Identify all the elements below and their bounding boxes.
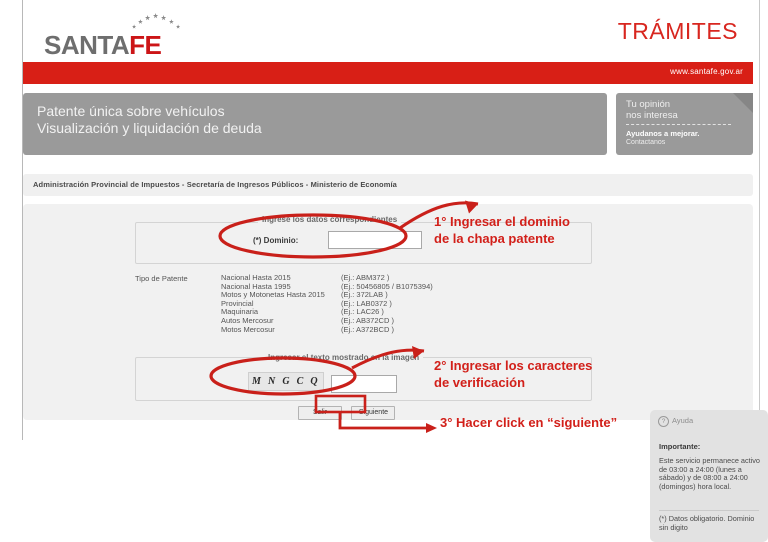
tipo-patente-examples: (Ej.: ABM372 ) (Ej.: 50456805 / B1075394…: [341, 274, 433, 334]
annotation-step2-line2: de verificación: [434, 374, 592, 391]
main-content-card: Ingrese los datos correspondientes (*) D…: [23, 204, 753, 420]
opinion-divider: [626, 124, 731, 125]
help-panel-header: Ayuda: [672, 416, 693, 425]
opinion-cta-bold: Ayudanos a mejorar.: [626, 129, 700, 138]
opinion-line1: Tu opinión: [626, 99, 670, 110]
tipo-patente-names: Nacional Hasta 2015 Nacional Hasta 1995 …: [221, 274, 325, 334]
tipo-example: (Ej.: A372BCD ): [341, 326, 433, 335]
section-title-tramites: TRÁMITES: [618, 18, 738, 45]
captcha-image: M N G C Q: [248, 372, 324, 391]
logo-wordmark: SANTAFE: [44, 30, 161, 61]
logo-word-fe: FE: [129, 30, 161, 60]
salir-button[interactable]: Salir: [298, 406, 342, 420]
siguiente-button[interactable]: Siguiente: [351, 406, 395, 420]
dominio-input[interactable]: [328, 231, 422, 249]
captcha-input[interactable]: [331, 375, 397, 393]
form-legend: Ingrese los datos correspondientes: [258, 215, 401, 224]
annotation-step2: 2° Ingresar los caracteres de verificaci…: [434, 357, 592, 391]
logo-word-santa: SANTA: [44, 30, 129, 60]
annotation-step1-line1: 1° Ingresar el dominio: [434, 213, 570, 230]
opinion-box[interactable]: Tu opinión nos interesa Ayudanos a mejor…: [616, 93, 753, 155]
page-root: SANTAFE TRÁMITES www.santafe.gov.ar Pate…: [0, 0, 768, 440]
captcha-legend: Ingresar el texto mostrado en la imagen: [264, 353, 423, 362]
red-nav-bar: www.santafe.gov.ar: [23, 62, 753, 84]
opinion-contact-link[interactable]: Contactanos: [626, 139, 665, 146]
breadcrumb-text: Administración Provincial de Impuestos -…: [33, 180, 397, 189]
form-button-row: Salir Siguiente: [298, 406, 400, 424]
santa-fe-logo[interactable]: SANTAFE: [44, 10, 194, 58]
help-important-label: Importante:: [659, 442, 700, 451]
page-title-band: Patente única sobre vehículos Visualizac…: [23, 93, 607, 155]
annotation-step1: 1° Ingresar el dominio de la chapa paten…: [434, 213, 570, 247]
folded-corner-icon: [733, 93, 753, 113]
website-url-link[interactable]: www.santafe.gov.ar: [670, 67, 743, 76]
annotation-step1-line2: de la chapa patente: [434, 230, 570, 247]
help-panel: ? Ayuda Importante: Este servicio perman…: [650, 410, 768, 542]
page-title-line1: Patente única sobre vehículos: [37, 103, 225, 119]
page-title-line2: Visualización y liquidación de deuda: [37, 120, 262, 136]
help-body-text: Este servicio permanece activo de 03:00 …: [659, 457, 763, 491]
arrow-step3-head: [426, 423, 437, 433]
opinion-line2: nos interesa: [626, 110, 678, 121]
tipo-name: Motos Mercosur: [221, 326, 325, 335]
question-mark-icon: ?: [658, 416, 669, 427]
help-note-text: (*) Datos obligatorio. Dominio sin digit…: [659, 515, 763, 532]
help-divider: [659, 510, 759, 511]
breadcrumb: Administración Provincial de Impuestos -…: [23, 174, 753, 196]
dominio-label: (*) Dominio:: [253, 236, 298, 245]
annotation-step2-line1: 2° Ingresar los caracteres: [434, 357, 592, 374]
browser-edge-right: [759, 0, 760, 440]
annotation-step3: 3° Hacer click en “siguiente”: [440, 414, 617, 431]
tipo-patente-label: Tipo de Patente: [135, 274, 188, 283]
